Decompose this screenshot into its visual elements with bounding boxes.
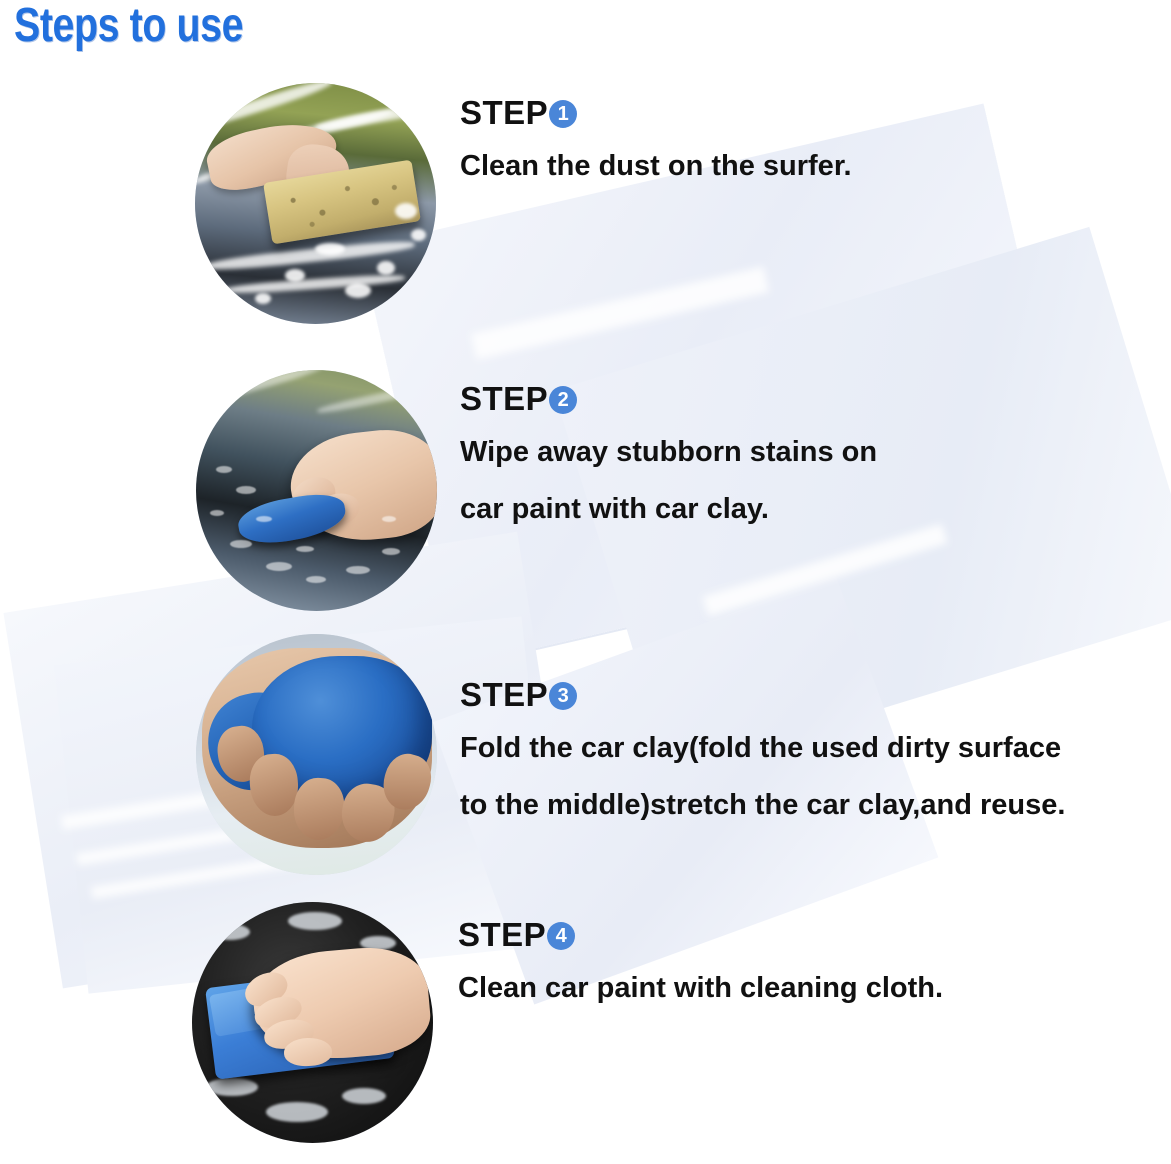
slab-highlight xyxy=(703,524,948,616)
step-1-text-line-1: Clean the dust on the surfer. xyxy=(460,152,852,181)
sponge-car-wash-scene xyxy=(195,83,436,324)
step-number-badge: 1 xyxy=(549,100,577,128)
microfiber-cloth-scene xyxy=(192,902,433,1143)
clay-on-wet-paint-scene xyxy=(196,370,437,611)
step-2-photo xyxy=(196,370,437,611)
step-number-badge: 3 xyxy=(549,682,577,710)
step-2-heading: STEP 2 xyxy=(460,382,877,415)
step-4-text-line-1: Clean car paint with cleaning cloth. xyxy=(458,974,943,1003)
kneading-clay-scene xyxy=(196,634,437,875)
step-3-text-line-2: to the middle)stretch the car clay,and r… xyxy=(460,791,1065,820)
step-3-text-line-1: Fold the car clay(fold the used dirty su… xyxy=(460,734,1065,763)
slab-highlight xyxy=(471,267,769,360)
step-1-heading: STEP 1 xyxy=(460,96,852,129)
step-4-photo xyxy=(192,902,433,1143)
step-number-badge: 4 xyxy=(547,922,575,950)
blue-clay-bar xyxy=(235,489,349,549)
step-number-badge: 2 xyxy=(549,386,577,414)
step-label: STEP xyxy=(460,382,548,415)
step-3-heading: STEP 3 xyxy=(460,678,1065,711)
page-title: Steps to use xyxy=(14,2,243,50)
step-4-heading: STEP 4 xyxy=(458,918,943,951)
step-1-photo xyxy=(195,83,436,324)
step-label: STEP xyxy=(460,96,548,129)
step-2-text-line-2: car paint with car clay. xyxy=(460,495,877,524)
step-label: STEP xyxy=(460,678,548,711)
step-label: STEP xyxy=(458,918,546,951)
step-2-text-line-1: Wipe away stubborn stains on xyxy=(460,438,877,467)
step-3-photo xyxy=(196,634,437,875)
